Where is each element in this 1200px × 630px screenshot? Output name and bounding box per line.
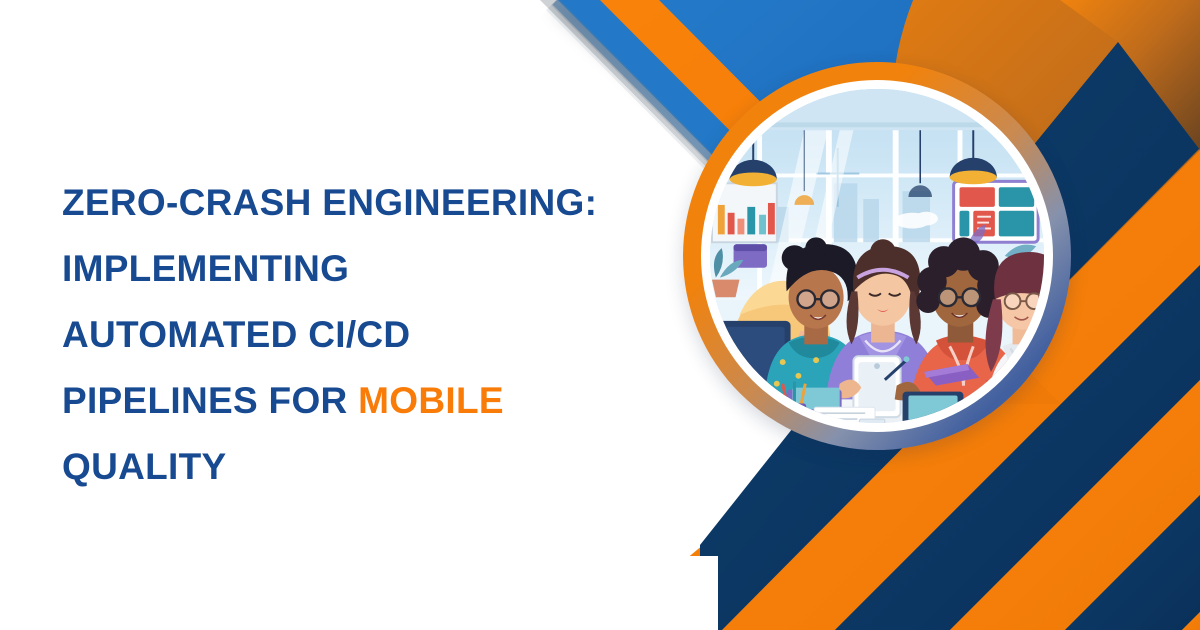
headline-line-5: QUALITY xyxy=(62,434,652,500)
headline-line-4: PIPELINES FOR MOBILE xyxy=(62,368,652,434)
page-title: ZERO-CRASH ENGINEERING: IMPLEMENTING AUT… xyxy=(62,170,652,500)
headline-line-1: ZERO-CRASH ENGINEERING: xyxy=(62,170,652,236)
banner-canvas: ZERO-CRASH ENGINEERING: IMPLEMENTING AUT… xyxy=(0,0,1200,630)
team-collaboration-illustration xyxy=(710,89,1044,423)
headline-line-2: IMPLEMENTING xyxy=(62,236,652,302)
headline-accent-mobile: MOBILE xyxy=(358,380,504,421)
headline-line-3: AUTOMATED CI/CD xyxy=(62,302,652,368)
bookshelf xyxy=(712,183,777,242)
illustration-circle xyxy=(683,62,1071,450)
dashboard-screen xyxy=(954,181,1038,242)
smartphone xyxy=(859,419,885,423)
headline-line-4-prefix: PIPELINES FOR xyxy=(62,380,358,421)
